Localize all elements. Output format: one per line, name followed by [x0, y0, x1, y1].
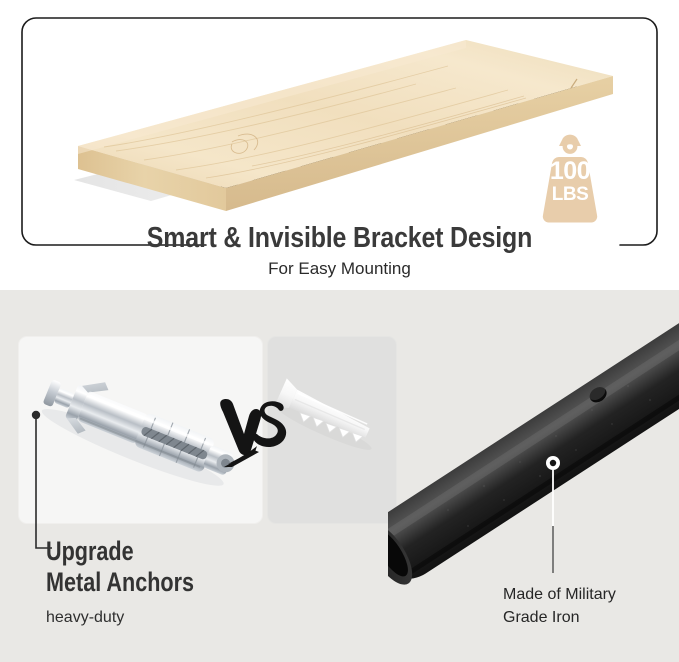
pipe-label-line1: Made of Military [503, 583, 616, 606]
anchor-callout-subtitle: heavy-duty [46, 609, 124, 627]
badge-weight-number: 100 [533, 159, 607, 184]
anchor-title-line2: Metal Anchors [46, 569, 194, 596]
top-section: 100 LBS Smart & Invisible Bracket Design… [0, 0, 679, 290]
anchor-callout-title: Upgrade Metal Anchors [46, 538, 194, 596]
shelf-illustration [56, 18, 616, 218]
anchor-title-line1: Upgrade [46, 536, 134, 566]
pipe-callout-label: Made of Military Grade Iron [503, 583, 616, 629]
pipe-label-line2: Grade Iron [503, 606, 616, 629]
page-subheadline: For Easy Mounting [0, 259, 679, 279]
badge-text-group: 100 LBS [533, 159, 607, 204]
weight-capacity-badge: 100 LBS [533, 133, 607, 225]
versus-mark [214, 388, 292, 468]
floating-shelf-image [56, 18, 616, 218]
page-headline: Smart & Invisible Bracket Design [48, 222, 632, 255]
product-infographic: 100 LBS Smart & Invisible Bracket Design… [0, 0, 679, 662]
badge-weight-unit: LBS [533, 185, 607, 204]
